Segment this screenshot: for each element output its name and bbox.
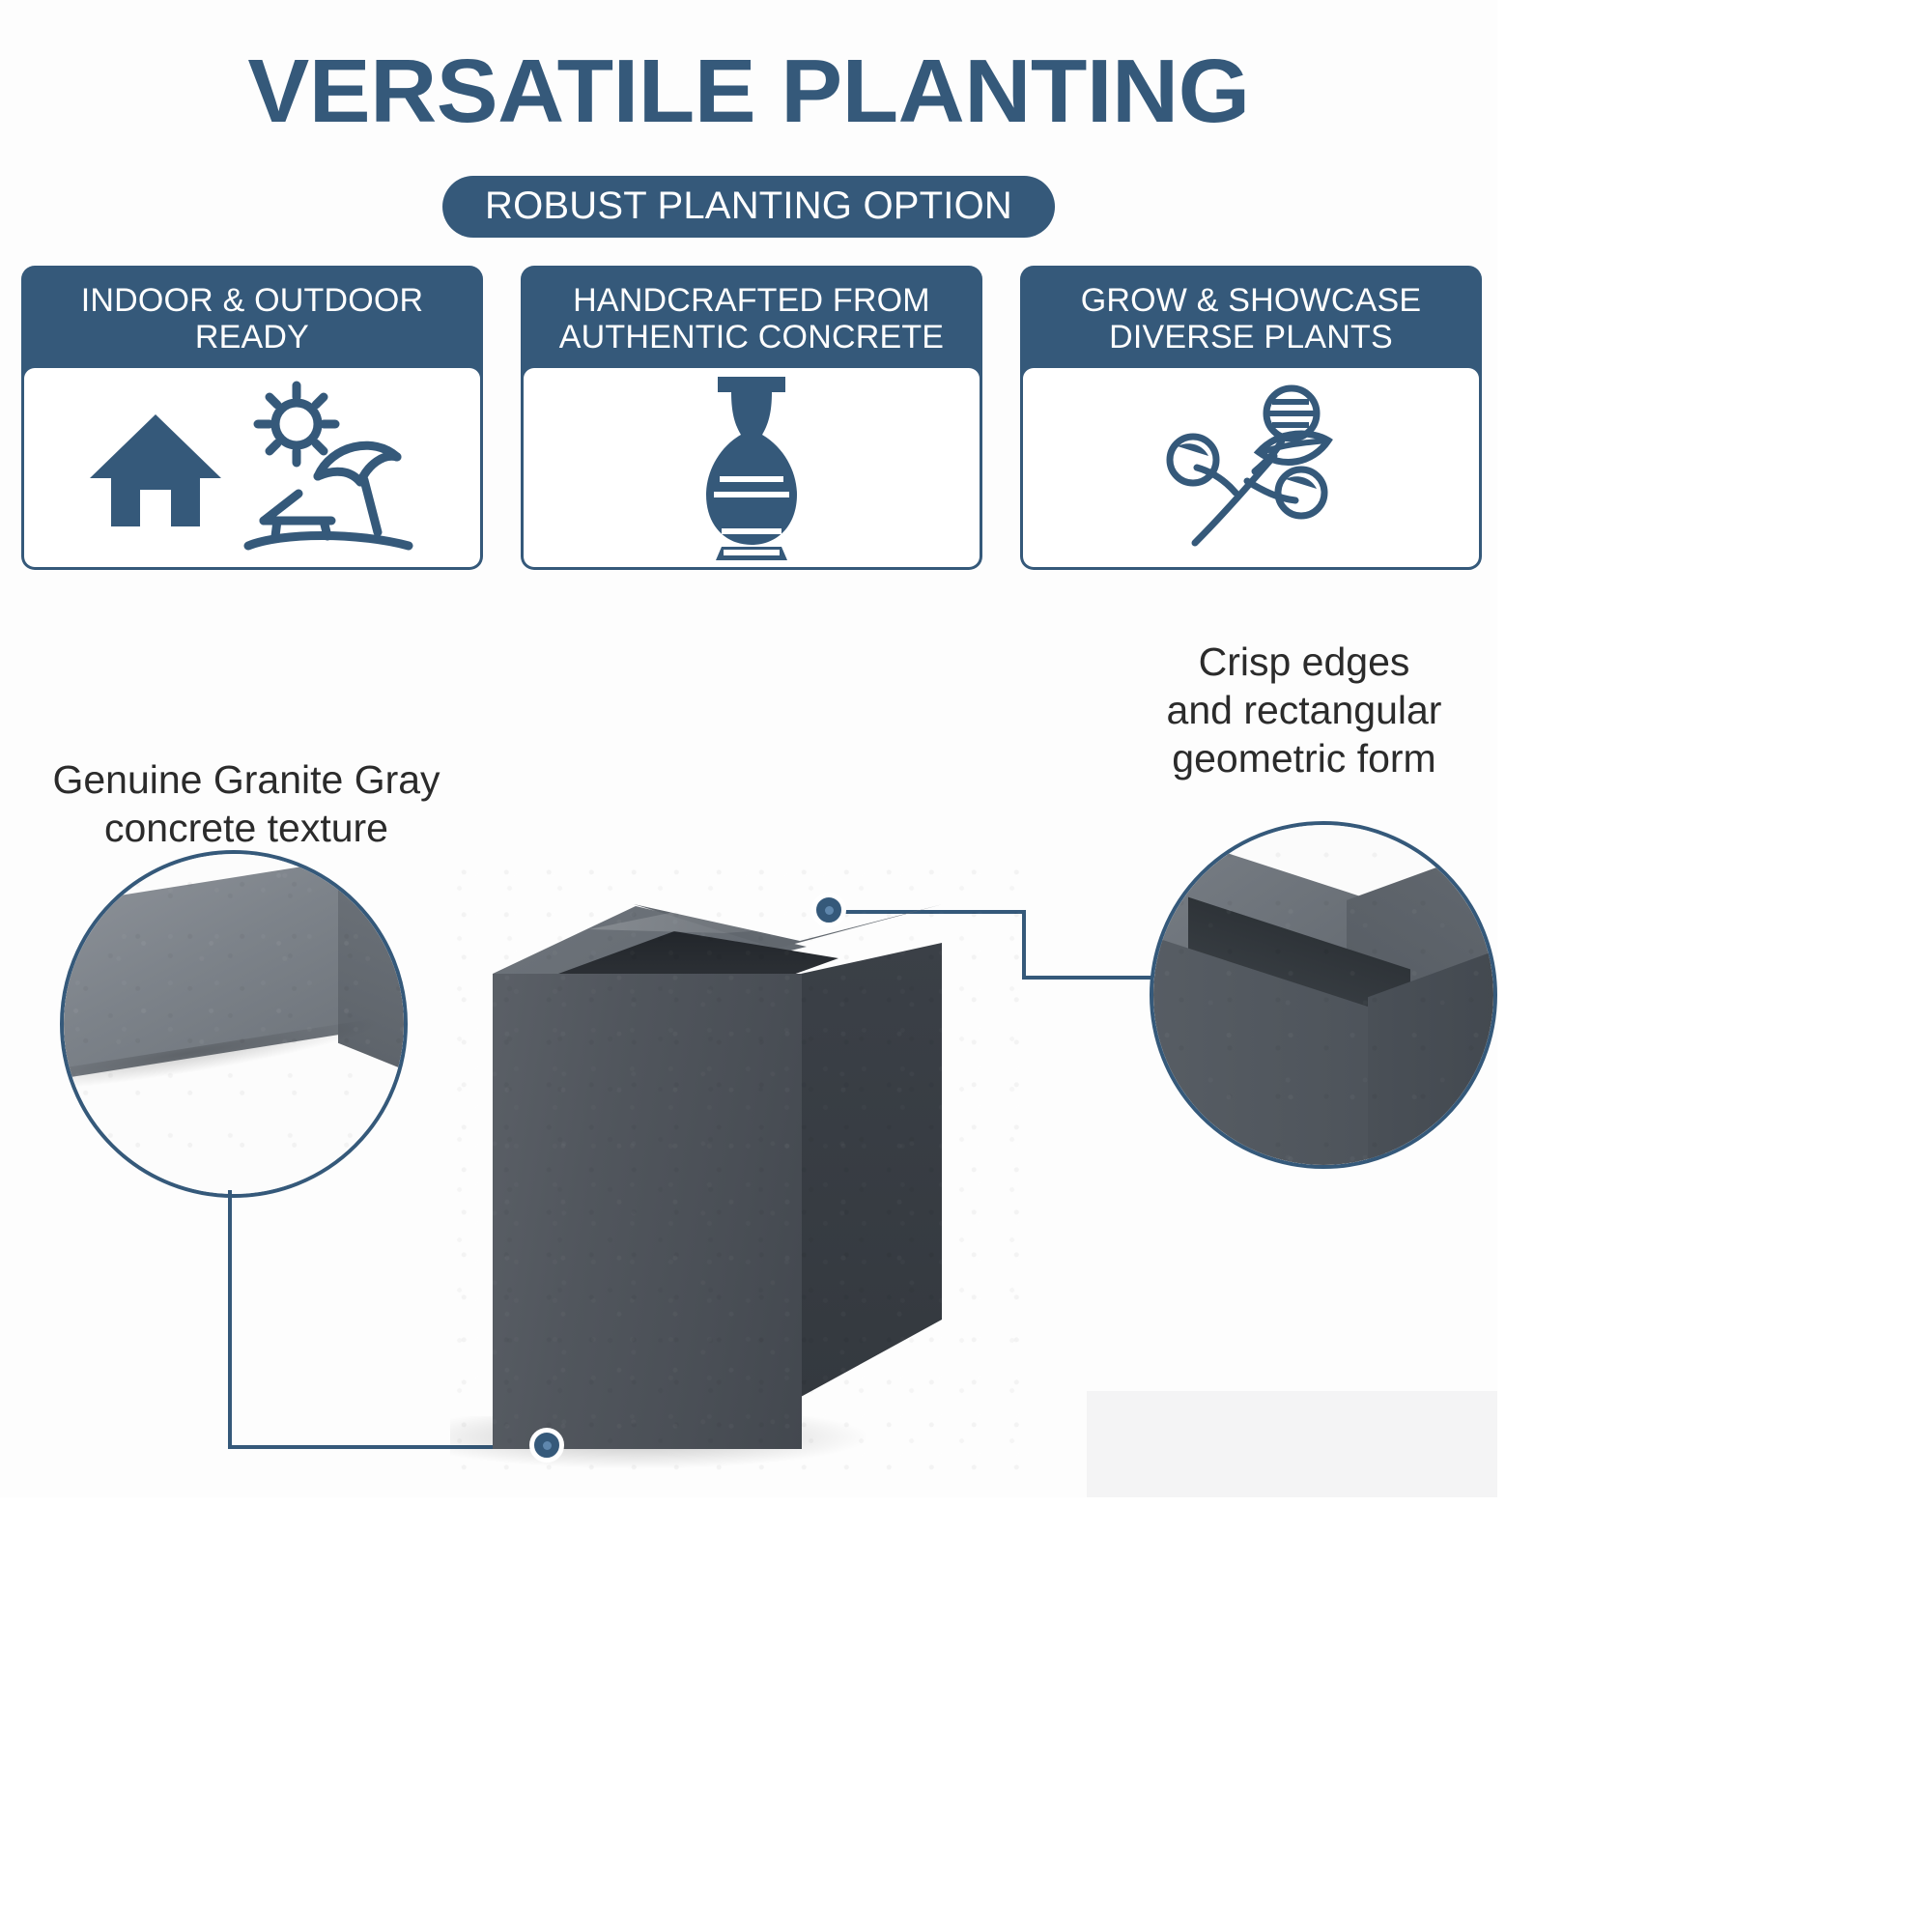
- callout-label-edges-line2: and rectangular: [1111, 686, 1497, 734]
- planter-front-face: [493, 974, 802, 1449]
- feature-card-3-heading: GROW & SHOWCASE DIVERSE PLANTS: [1023, 269, 1479, 368]
- square-concrete-planter: [444, 850, 1043, 1488]
- infographic-stage: VERSATILE PLANTING ROBUST PLANTING OPTIO…: [0, 0, 1497, 1497]
- feature-card-1-heading-line2: READY: [34, 319, 470, 355]
- feature-card-1-heading-line1: INDOOR & OUTDOOR: [34, 282, 470, 319]
- beach-umbrella-icon: [242, 376, 416, 559]
- feature-card-2-heading: HANDCRAFTED FROM AUTHENTIC CONCRETE: [524, 269, 980, 368]
- callout-marker-texture[interactable]: [529, 1428, 564, 1463]
- feature-card-3-body: [1023, 368, 1479, 567]
- feature-card-authentic-concrete: HANDCRAFTED FROM AUTHENTIC CONCRETE: [521, 266, 982, 570]
- vase-icon: [679, 371, 824, 564]
- feature-card-2-heading-line2: AUTHENTIC CONCRETE: [533, 319, 970, 355]
- feature-card-row: INDOOR & OUTDOOR READY: [21, 266, 1482, 570]
- bubble-right-concrete-grain: [1153, 825, 1493, 1165]
- feature-card-1-body: [24, 368, 480, 567]
- callout-label-edges-line1: Crisp edges: [1111, 638, 1497, 686]
- feature-card-1-icon-row: [88, 376, 416, 559]
- concrete-texture-zoom-bubble: [60, 850, 408, 1198]
- berry-branch-icon: [1154, 371, 1348, 564]
- callout-label-texture: Genuine Granite Gray concrete texture: [19, 755, 473, 852]
- callout-marker-edge[interactable]: [811, 893, 846, 927]
- feature-card-indoor-outdoor: INDOOR & OUTDOOR READY: [21, 266, 483, 570]
- feature-card-1-heading: INDOOR & OUTDOOR READY: [24, 269, 480, 368]
- callout-label-edges-line3: geometric form: [1111, 734, 1497, 782]
- floor-plane: [1087, 1391, 1497, 1497]
- callout-label-texture-line2: concrete texture: [19, 804, 473, 852]
- crisp-edge-zoom-bubble: [1150, 821, 1497, 1169]
- feature-card-2-body: [524, 368, 980, 567]
- planter-side-face: [801, 943, 942, 1397]
- feature-card-3-heading-line1: GROW & SHOWCASE: [1033, 282, 1469, 319]
- page-title: VERSATILE PLANTING: [0, 46, 1520, 136]
- house-icon: [88, 405, 223, 530]
- feature-card-diverse-plants: GROW & SHOWCASE DIVERSE PLANTS: [1020, 266, 1482, 570]
- callout-label-texture-line1: Genuine Granite Gray: [19, 755, 473, 804]
- subtitle-pill: ROBUST PLANTING OPTION: [442, 176, 1055, 238]
- feature-card-3-heading-line2: DIVERSE PLANTS: [1033, 319, 1469, 355]
- callout-label-edges: Crisp edges and rectangular geometric fo…: [1111, 638, 1497, 782]
- leader-line-texture-vertical: [228, 1190, 232, 1449]
- feature-card-2-heading-line1: HANDCRAFTED FROM: [533, 282, 970, 319]
- bubble-left-concrete-grain: [64, 854, 404, 1194]
